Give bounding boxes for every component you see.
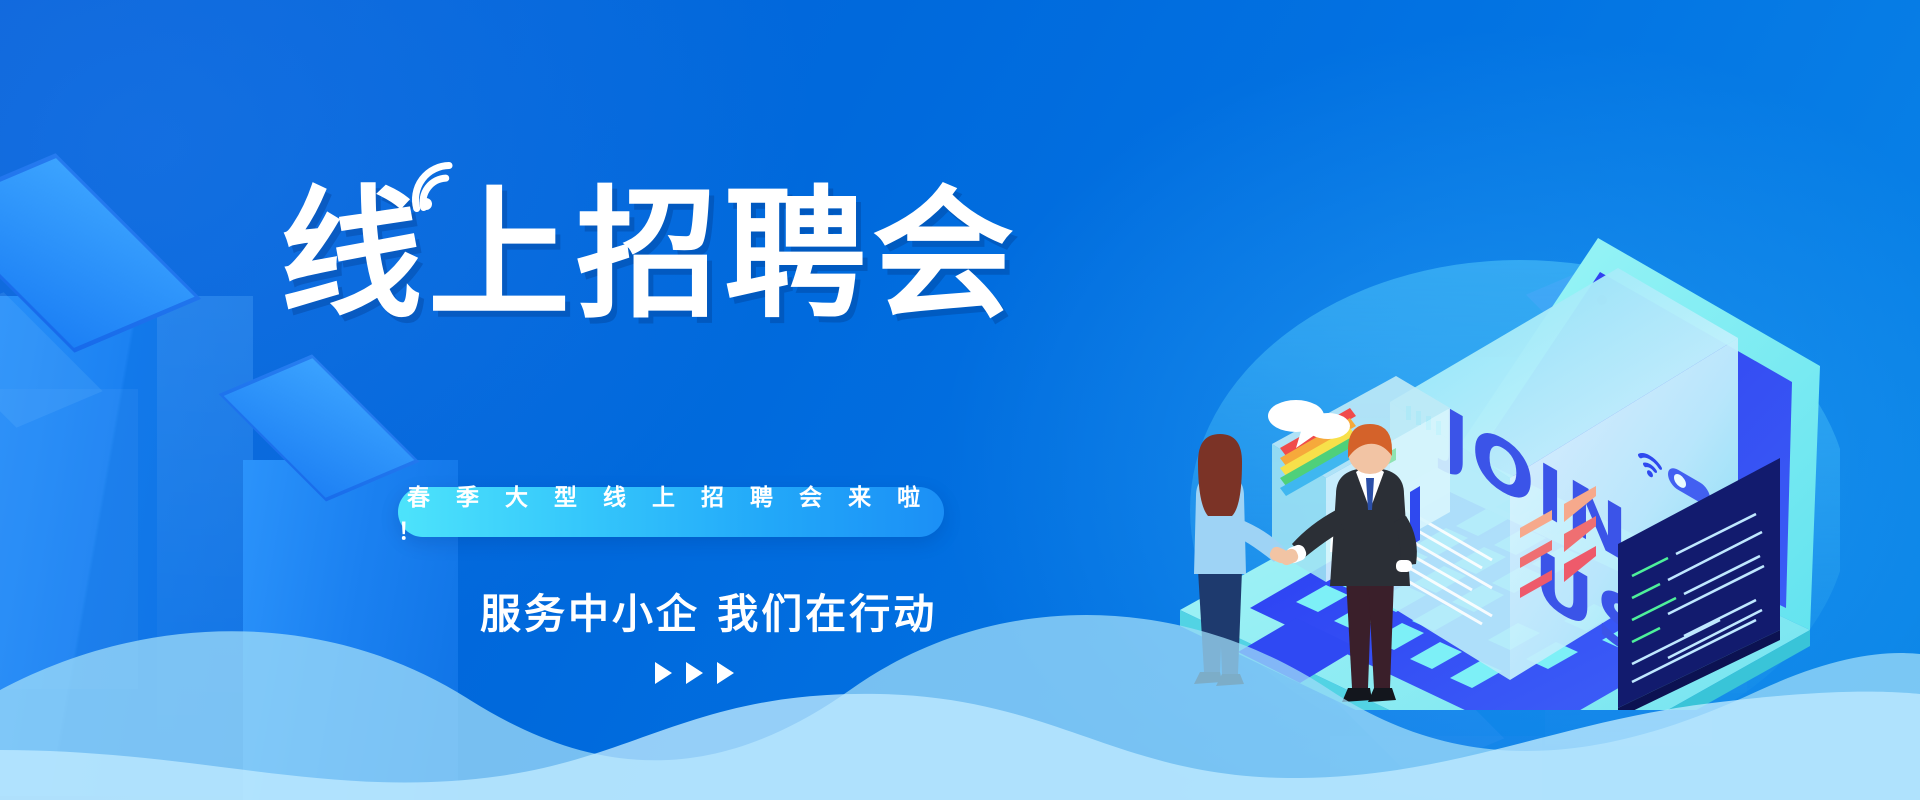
banner-root: JOIN US [0, 0, 1920, 800]
subtitle-pill: 春 季 大 型 线 上 招 聘 会 来 啦 ！ [398, 487, 944, 537]
subtitle-text: 春 季 大 型 线 上 招 聘 会 来 啦 ！ [398, 478, 944, 546]
headline-block: 线上招聘会 [280, 176, 1070, 336]
wave-decoration [0, 570, 1920, 800]
page-title: 线上招聘会 [280, 176, 1070, 336]
wifi-signal-icon [404, 162, 462, 214]
